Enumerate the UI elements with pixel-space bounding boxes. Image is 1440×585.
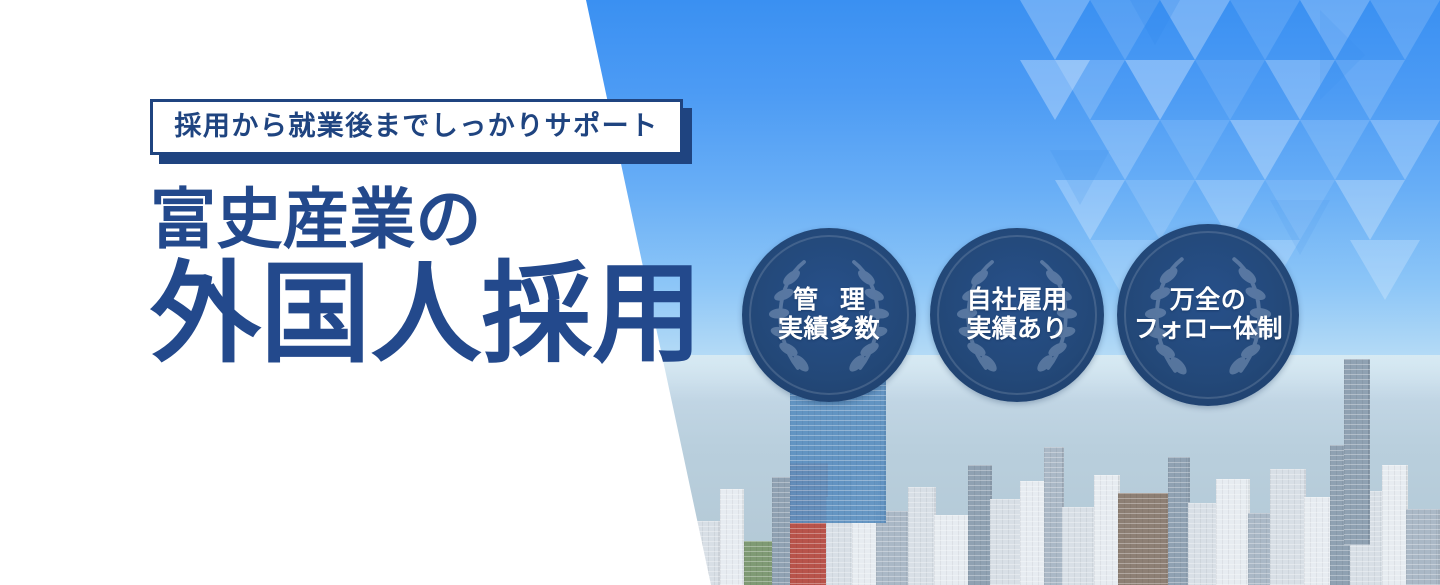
page-title: 富史産業の 外国人採用: [150, 186, 703, 370]
badge-line-1: 管 理: [778, 286, 880, 316]
badge-text: 自社雇用 実績あり: [966, 286, 1067, 345]
badge-text: 万全の フォロー体制: [1134, 286, 1283, 345]
badge-line-1: 万全の: [1134, 286, 1283, 316]
badge-group: 管 理 実績多数: [742, 228, 1312, 414]
headline-line-2: 外国人採用: [150, 260, 703, 370]
badge-line-2: 実績多数: [778, 315, 880, 345]
tagline: 採用から就業後までしっかりサポート: [150, 99, 683, 155]
badge-full-follow-up-system: 万全の フォロー体制: [1117, 224, 1299, 406]
badge-line-2: フォロー体制: [1134, 315, 1283, 345]
tagline-text: 採用から就業後までしっかりサポート: [174, 113, 658, 140]
badge-line-1: 自社雇用: [966, 286, 1067, 316]
badge-direct-employment-record: 自社雇用 実績あり: [930, 228, 1104, 402]
badge-text: 管 理 実績多数: [778, 286, 880, 345]
badge-management-record: 管 理 実績多数: [742, 228, 916, 402]
tagline-box: 採用から就業後までしっかりサポート: [150, 99, 683, 155]
headline-line-1: 富史産業の: [150, 186, 703, 252]
badge-line-2: 実績あり: [966, 315, 1067, 345]
hero-banner: 採用から就業後までしっかりサポート 富史産業の 外国人採用: [0, 0, 1440, 585]
